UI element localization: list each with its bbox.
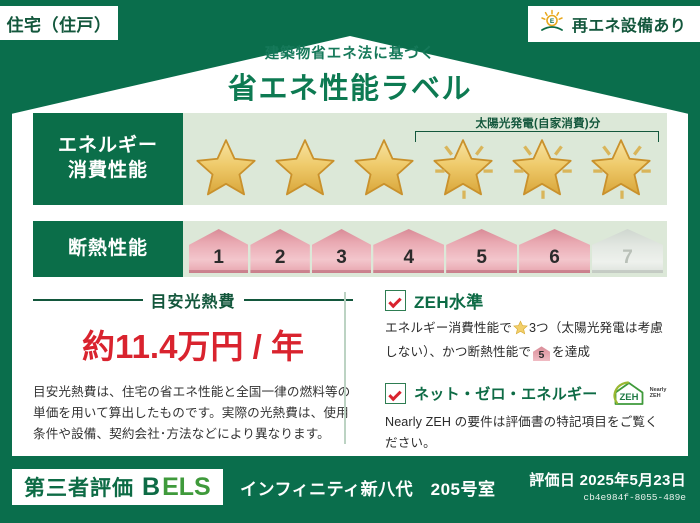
zeh-desc-part-a: エネルギー消費性能で: [385, 321, 512, 335]
insulation-level-5: 5: [446, 229, 517, 273]
footer: 第三者評価 BELS インフィニティ新八代 205号室 評価日 2025年5月2…: [0, 461, 700, 523]
bels-badge: 第三者評価 BELS: [12, 469, 223, 505]
renewable-energy-badge: E 再エネ設備あり: [528, 6, 700, 42]
net-zero-energy-title: ネット・ゼロ・エネルギー: [414, 383, 598, 404]
insulation-level-1: 1: [189, 229, 248, 273]
utility-cost-value: 約11.4万円 / 年: [33, 320, 353, 368]
bels-logo-els: ELS: [162, 473, 211, 502]
insulation-rating-body: 1234567: [183, 221, 667, 277]
net-zero-energy-description: Nearly ZEH の要件は評価書の特記項目をご覧ください。: [385, 412, 667, 455]
zeh-standard-title: ZEH水準: [414, 288, 484, 313]
net-zero-energy-checkbox[interactable]: [385, 383, 406, 404]
energy-performance-panel: エネルギー 消費性能 太陽光発電(自家消費)分: [33, 113, 667, 205]
evaluation-date: 評価日 2025年5月23日: [529, 469, 686, 490]
solar-sparkle-icon: [505, 136, 581, 200]
solar-sparkle-icon: [584, 136, 660, 200]
heading-rule-right: [244, 299, 354, 301]
insulation-performance-panel: 断熱性能 1234567: [33, 221, 667, 277]
heading-rule-left: [33, 299, 143, 301]
insulation-label-text: 断熱性能: [68, 237, 148, 262]
star-5: [505, 136, 581, 200]
property-name: インフィニティ新八代 205号室: [240, 475, 496, 500]
utility-cost-note: 目安光熱費は、住宅の省エネ性能と全国一律の燃料等の単価を用いて算出したものです。…: [33, 382, 353, 444]
zeh-column: ZEH水準 エネルギー消費性能で 3つ（太陽光発電は考慮しない）、かつ断熱性能で…: [363, 288, 667, 448]
third-party-eval-label: 第三者評価: [24, 472, 134, 502]
zeh-logo: ZEH Nearly ZEH: [610, 380, 667, 407]
energy-star-rating: [189, 135, 667, 201]
net-zero-energy-row: ネット・ゼロ・エネルギー ZEH Nearly ZEH: [385, 380, 667, 407]
star-1: [189, 136, 265, 200]
insulation-performance-label: 断熱性能: [33, 221, 183, 277]
inline-insulation-badge: 5: [533, 346, 550, 361]
insulation-level-6: 6: [519, 229, 590, 273]
star-2: [268, 136, 344, 200]
solar-sparkle-icon: [426, 136, 502, 200]
star-6: [584, 136, 660, 200]
solar-sun-icon: E: [539, 9, 565, 40]
energy-label-line1: エネルギー: [58, 134, 158, 159]
bels-logo-b: B: [142, 473, 160, 502]
zeh-standard-description: エネルギー消費性能で 3つ（太陽光発電は考慮しない）、かつ断熱性能で5を達成: [385, 318, 667, 364]
renewable-energy-label: 再エネ設備あり: [572, 12, 686, 36]
utility-cost-heading: 目安光熱費: [33, 288, 353, 312]
solar-bracket-label: 太陽光発電(自家消費)分: [415, 115, 661, 131]
energy-label-line2: 消費性能: [68, 159, 148, 184]
svg-text:ZEH: ZEH: [619, 392, 638, 403]
column-divider: [344, 292, 346, 444]
zeh-standard-row: ZEH水準: [385, 288, 667, 313]
star-3: [347, 136, 423, 200]
utility-cost-heading-text: 目安光熱費: [151, 288, 236, 312]
building-type-label: 住宅（住戸）: [7, 11, 112, 36]
zeh-desc-part-c: を達成: [552, 345, 590, 359]
insulation-level-3: 3: [312, 229, 371, 273]
insulation-level-4: 4: [373, 229, 444, 273]
zeh-nearly-sublabel: Nearly ZEH: [650, 387, 667, 399]
lower-content: 目安光熱費 約11.4万円 / 年 目安光熱費は、住宅の省エネ性能と全国一律の燃…: [33, 288, 667, 448]
zeh-standard-checkbox[interactable]: [385, 290, 406, 311]
utility-cost-column: 目安光熱費 約11.4万円 / 年 目安光熱費は、住宅の省エネ性能と全国一律の燃…: [33, 288, 363, 448]
energy-performance-label: エネルギー 消費性能: [33, 113, 183, 205]
inline-star-icon: [513, 320, 528, 342]
insulation-level-7: 7: [592, 229, 663, 273]
svg-text:E: E: [550, 18, 555, 25]
insulation-level-scale: 1234567: [189, 225, 663, 273]
energy-rating-body: 太陽光発電(自家消費)分: [183, 113, 667, 205]
evaluation-id: cb4e984f-8055-489e: [529, 492, 686, 503]
building-type-tag: 住宅（住戸）: [0, 6, 118, 40]
evaluation-meta: 評価日 2025年5月23日 cb4e984f-8055-489e: [529, 469, 686, 503]
star-4: [426, 136, 502, 200]
zeh-nearly-line2: ZEH: [650, 393, 661, 399]
insulation-level-2: 2: [250, 229, 309, 273]
